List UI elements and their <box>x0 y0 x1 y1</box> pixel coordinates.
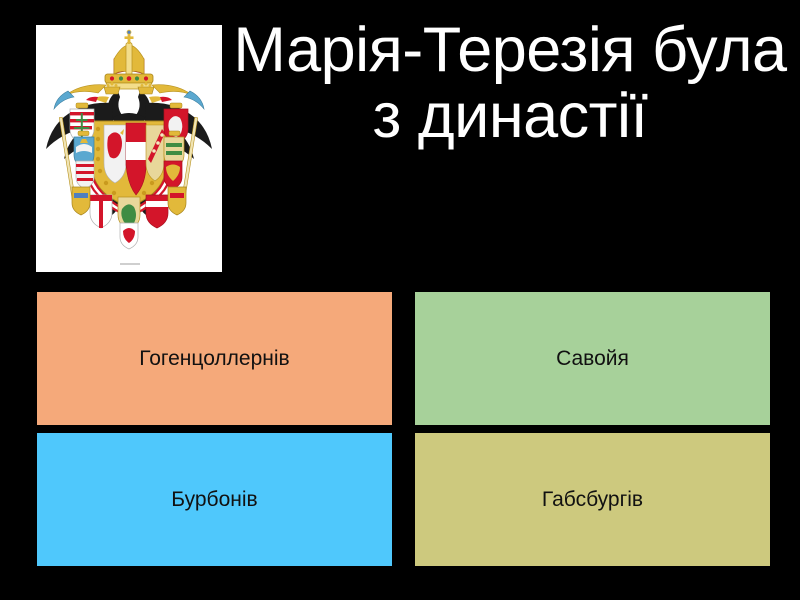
answer-option-4-label: Габсбургів <box>542 487 643 512</box>
question-title: Марія-Терезія була з династії <box>232 18 788 270</box>
answers-grid: Гогенцоллернів Савойя Бурбонів Габсбургі… <box>37 292 764 566</box>
question-area: Марія-Терезія була з династії <box>0 0 800 285</box>
answer-option-2[interactable]: Савойя <box>415 292 770 425</box>
answer-option-1-label: Гогенцоллернів <box>139 346 289 371</box>
quiz-slide: Марія-Терезія була з династії Гогенцолле… <box>0 0 800 600</box>
coat-of-arms-svg <box>36 25 222 272</box>
answer-option-3-label: Бурбонів <box>171 487 257 512</box>
answer-option-1[interactable]: Гогенцоллернів <box>37 292 392 425</box>
coat-of-arms-image <box>36 25 222 272</box>
answer-option-3[interactable]: Бурбонів <box>37 433 392 566</box>
answer-option-4[interactable]: Габсбургів <box>415 433 770 566</box>
answer-option-2-label: Савойя <box>556 346 629 371</box>
